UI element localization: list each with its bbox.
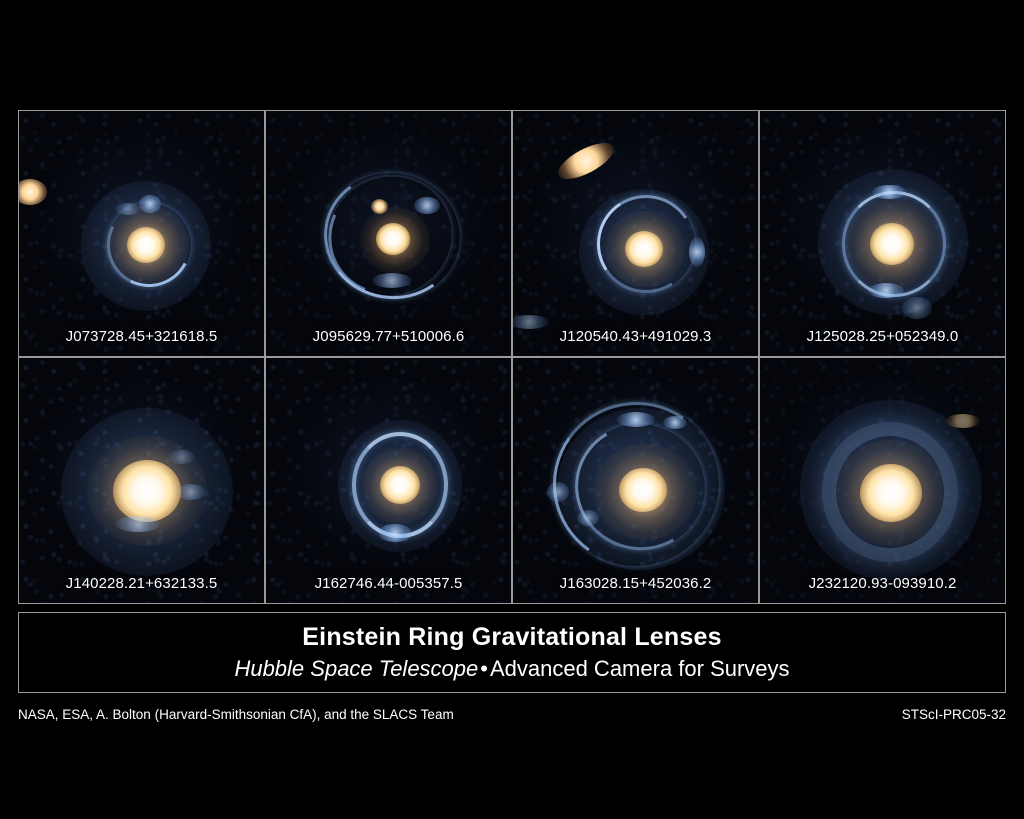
lens-panel-8[interactable]: J232120.93-093910.2 bbox=[760, 358, 1005, 603]
lens-panel-7[interactable]: J163028.15+452036.2 bbox=[513, 358, 758, 603]
telescope-name: Hubble Space Telescope bbox=[234, 656, 478, 681]
lens-galaxy-core bbox=[113, 460, 181, 522]
arc-knot-right bbox=[414, 197, 440, 214]
credit-text: NASA, ESA, A. Bolton (Harvard-Smithsonia… bbox=[18, 707, 454, 722]
arc-knot-right bbox=[177, 484, 205, 500]
arc-knot-lower bbox=[372, 273, 412, 288]
einstein-ring bbox=[842, 191, 946, 297]
einstein-ring bbox=[352, 432, 448, 538]
panel-label: J095629.77+510006.6 bbox=[266, 328, 511, 345]
panel-label: J073728.45+321618.5 bbox=[19, 328, 264, 345]
arc-knot-bottom bbox=[378, 524, 412, 542]
release-id: STScI-PRC05-32 bbox=[902, 707, 1006, 722]
lens-panel-4[interactable]: J125028.25+052349.0 bbox=[760, 111, 1005, 356]
lens-panel-1[interactable]: J073728.45+321618.5 bbox=[19, 111, 264, 356]
arc-knot-upper-left bbox=[115, 203, 141, 215]
image-grid: J073728.45+321618.5 J095629.77+510006.6 bbox=[18, 110, 1006, 604]
panel-label: J120540.43+491029.3 bbox=[513, 328, 758, 345]
poster-root: J073728.45+321618.5 J095629.77+510006.6 bbox=[0, 0, 1024, 819]
arc-knot-left bbox=[547, 482, 569, 502]
arc-knot-upper-right bbox=[169, 450, 195, 464]
credit-line: NASA, ESA, A. Bolton (Harvard-Smithsonia… bbox=[18, 707, 1006, 722]
arc-knot-top bbox=[139, 195, 161, 213]
caption-box: Einstein Ring Gravitational Lenses Hubbl… bbox=[18, 612, 1006, 693]
arc-knot-top bbox=[617, 412, 655, 427]
arc-knot-lower bbox=[115, 516, 161, 532]
poster-title: Einstein Ring Gravitational Lenses bbox=[302, 623, 721, 653]
panel-label: J125028.25+052349.0 bbox=[760, 328, 1005, 345]
arc-knot-lower-left bbox=[577, 510, 599, 526]
arc-knot-top bbox=[872, 185, 906, 199]
panel-label: J163028.15+452036.2 bbox=[513, 575, 758, 592]
counter-arc-right bbox=[689, 237, 705, 267]
poster-subtitle: Hubble Space Telescope•Advanced Camera f… bbox=[234, 655, 789, 683]
arc-knot-bottom bbox=[868, 283, 904, 298]
subtitle-separator: • bbox=[478, 656, 490, 681]
arc-knot-upper-right bbox=[663, 416, 687, 429]
instrument-name: Advanced Camera for Surveys bbox=[490, 656, 790, 681]
panel-label: J162746.44-005357.5 bbox=[266, 575, 511, 592]
lens-panel-6[interactable]: J162746.44-005357.5 bbox=[266, 358, 511, 603]
panel-label: J140228.21+632133.5 bbox=[19, 575, 264, 592]
panel-label: J232120.93-093910.2 bbox=[760, 575, 1005, 592]
lens-panel-3[interactable]: J120540.43+491029.3 bbox=[513, 111, 758, 356]
lens-panel-2[interactable]: J095629.77+510006.6 bbox=[266, 111, 511, 356]
faint-companion-upper-right bbox=[946, 414, 980, 428]
arc-tail-lower-right bbox=[902, 297, 932, 319]
lens-galaxy-core bbox=[860, 464, 922, 522]
lens-panel-5[interactable]: J140228.21+632133.5 bbox=[19, 358, 264, 603]
